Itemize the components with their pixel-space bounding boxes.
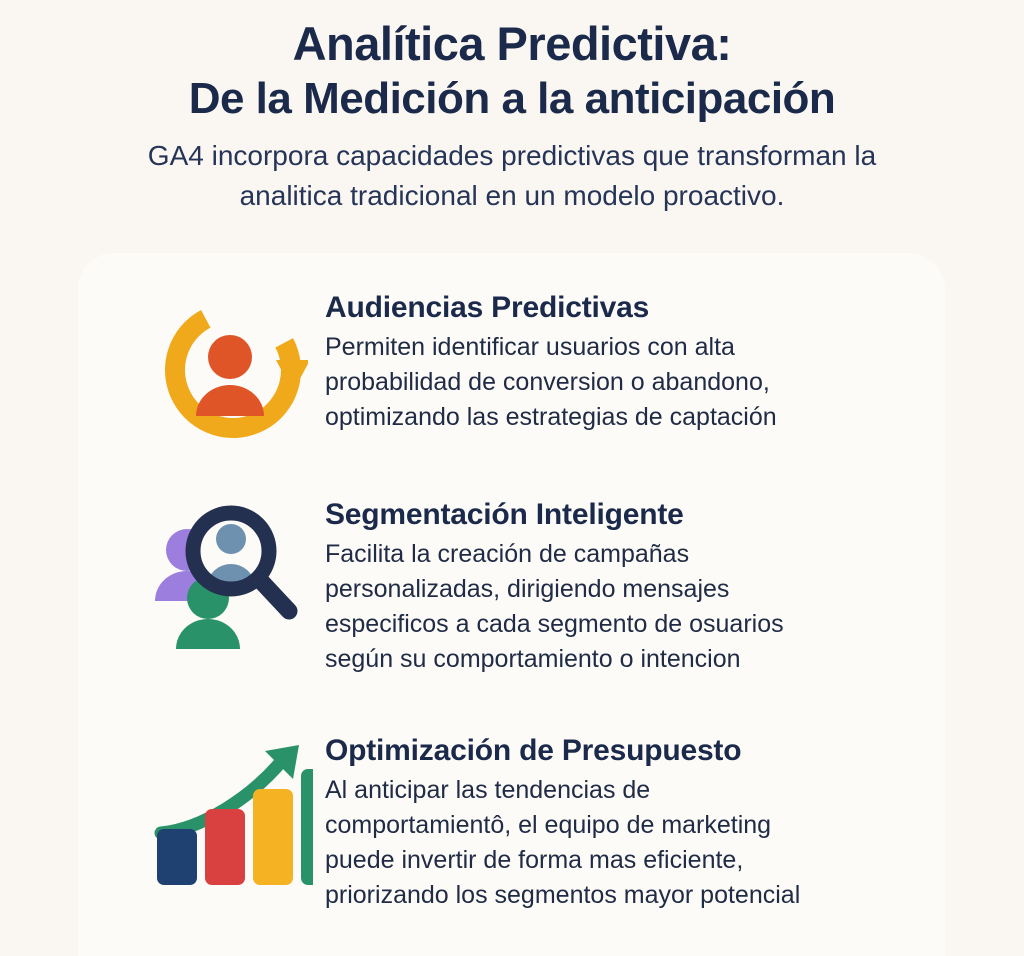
growth-bar-chart-icon: [140, 733, 325, 886]
item-description: Facilita la creación de campañas persona…: [325, 537, 784, 677]
desc-line-2: probabilidad de conversion o abandono,: [325, 365, 777, 400]
title-line-2: De la Medición a la anticipación: [0, 72, 1024, 126]
desc-line-1: Al anticipar las tendencias de: [325, 773, 800, 808]
desc-line-1: Facilita la creación de campañas: [325, 537, 784, 572]
list-item-smart-segmentation: Segmentación Inteligente Facilita la cre…: [140, 497, 784, 677]
desc-line-3: especificos a cada segmento de osuarios: [325, 607, 784, 642]
subtitle-line-1: GA4 incorpora capacidades predictivas qu…: [0, 136, 1024, 176]
item-heading: Audiencias Predictivas: [325, 290, 777, 326]
list-item-budget-optimization: Optimización de Presupuesto Al anticipar…: [140, 733, 800, 913]
desc-line-1: Permiten identificar usuarios con alta: [325, 330, 777, 365]
item-text-block: Segmentación Inteligente Facilita la cre…: [325, 497, 784, 677]
item-description: Permiten identificar usuarios con alta p…: [325, 330, 777, 435]
page-subtitle: GA4 incorpora capacidades predictivas qu…: [0, 136, 1024, 216]
desc-line-2: comportamientô, el equipo de marketing: [325, 808, 800, 843]
audience-segmentation-icon: [140, 497, 325, 650]
header: Analítica Predictiva: De la Medición a l…: [0, 0, 1024, 216]
item-heading: Optimización de Presupuesto: [325, 733, 800, 769]
list-item-predictive-audiences: Audiencias Predictivas Permiten identifi…: [140, 290, 777, 443]
infographic-page: Analítica Predictiva: De la Medición a l…: [0, 0, 1024, 956]
item-description: Al anticipar las tendencias de comportam…: [325, 773, 800, 913]
item-text-block: Optimización de Presupuesto Al anticipar…: [325, 733, 800, 913]
desc-line-2: personalizadas, dirigiendo mensajes: [325, 572, 784, 607]
desc-line-4: según su comportamiento o intencion: [325, 642, 784, 677]
desc-line-3: optimizando las estrategias de captación: [325, 400, 777, 435]
item-text-block: Audiencias Predictivas Permiten identifi…: [325, 290, 777, 435]
title-line-1: Analítica Predictiva:: [0, 0, 1024, 72]
item-heading: Segmentación Inteligente: [325, 497, 784, 533]
subtitle-line-2: analitica tradicional en un modelo proac…: [0, 176, 1024, 216]
desc-line-4: priorizando los segmentos mayor potencia…: [325, 878, 800, 913]
predictive-audience-icon: [140, 290, 325, 443]
page-title: Analítica Predictiva: De la Medición a l…: [0, 0, 1024, 126]
desc-line-3: puede invertir de forma mas eficiente,: [325, 843, 800, 878]
